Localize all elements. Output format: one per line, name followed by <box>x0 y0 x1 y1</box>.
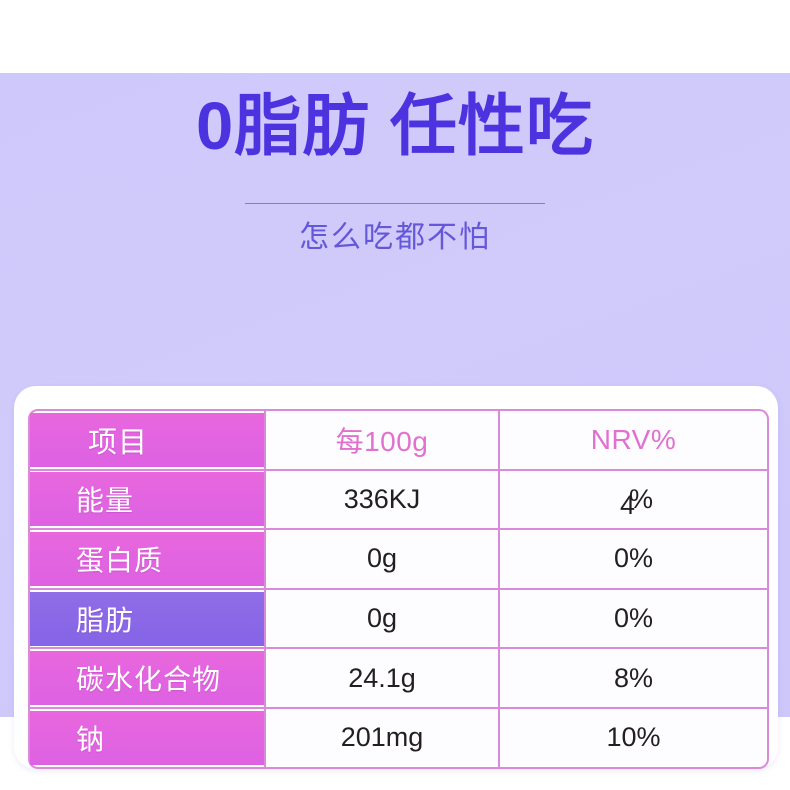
nrv-energy-number: 4 <box>620 490 633 520</box>
row-label-cell-fat: 脂肪 <box>28 590 266 650</box>
row-value-protein: 0g <box>266 530 500 590</box>
nutrition-promo-page: 0脂肪 任性吃 怎么吃都不怕 项目 每100g NRV% <box>0 0 790 790</box>
header-per-amount-label: 每100g <box>336 426 429 457</box>
header-cell-item: 项目 <box>28 409 266 471</box>
row-nrv-sodium: 10% <box>500 709 769 769</box>
row-nrv-carbohydrate: 8% <box>500 649 769 709</box>
row-value-sodium: 201mg <box>266 709 500 769</box>
row-label-fat: 脂肪 <box>30 592 264 646</box>
row-value-energy: 336KJ <box>266 471 500 531</box>
row-label-cell-energy: 能量 <box>28 471 266 531</box>
row-label-sodium: 钠 <box>30 711 264 765</box>
promo-headline: 0脂肪 任性吃 <box>0 93 790 160</box>
table-row: 蛋白质 0g 0% <box>28 530 769 590</box>
row-label-cell-protein: 蛋白质 <box>28 530 266 590</box>
promo-panel: 0脂肪 任性吃 怎么吃都不怕 项目 每100g NRV% <box>0 73 790 717</box>
row-nrv-protein: 0% <box>500 530 769 590</box>
table-row: 脂肪 0g 0% <box>28 590 769 650</box>
header-nrv-label: NRV% <box>591 424 677 455</box>
nutrition-facts-table: 项目 每100g NRV% 能量 336KJ <box>28 409 769 769</box>
table-row: 能量 336KJ 4% <box>28 471 769 531</box>
row-nrv-energy: 4% <box>500 471 769 531</box>
header-cell-nrv: NRV% <box>500 409 769 471</box>
row-label-energy: 能量 <box>30 472 264 526</box>
nutrition-table-card: 项目 每100g NRV% 能量 336KJ <box>14 386 778 769</box>
row-value-carbohydrate: 24.1g <box>266 649 500 709</box>
row-nrv-energy-value: 4% <box>616 484 651 515</box>
row-label-cell-sodium: 钠 <box>28 709 266 769</box>
row-label-protein: 蛋白质 <box>30 532 264 586</box>
table-header-row: 项目 每100g NRV% <box>28 409 769 471</box>
header-cell-per-amount: 每100g <box>266 409 500 471</box>
table-row: 钠 201mg 10% <box>28 709 769 769</box>
row-nrv-fat: 0% <box>500 590 769 650</box>
table-row: 碳水化合物 24.1g 8% <box>28 649 769 709</box>
row-label-carbohydrate: 碳水化合物 <box>30 651 264 705</box>
header-item-label: 项目 <box>30 413 264 467</box>
row-label-cell-carbohydrate: 碳水化合物 <box>28 649 266 709</box>
row-value-fat: 0g <box>266 590 500 650</box>
promo-subheadline: 怎么吃都不怕 <box>0 218 790 259</box>
headline-divider <box>245 203 545 204</box>
